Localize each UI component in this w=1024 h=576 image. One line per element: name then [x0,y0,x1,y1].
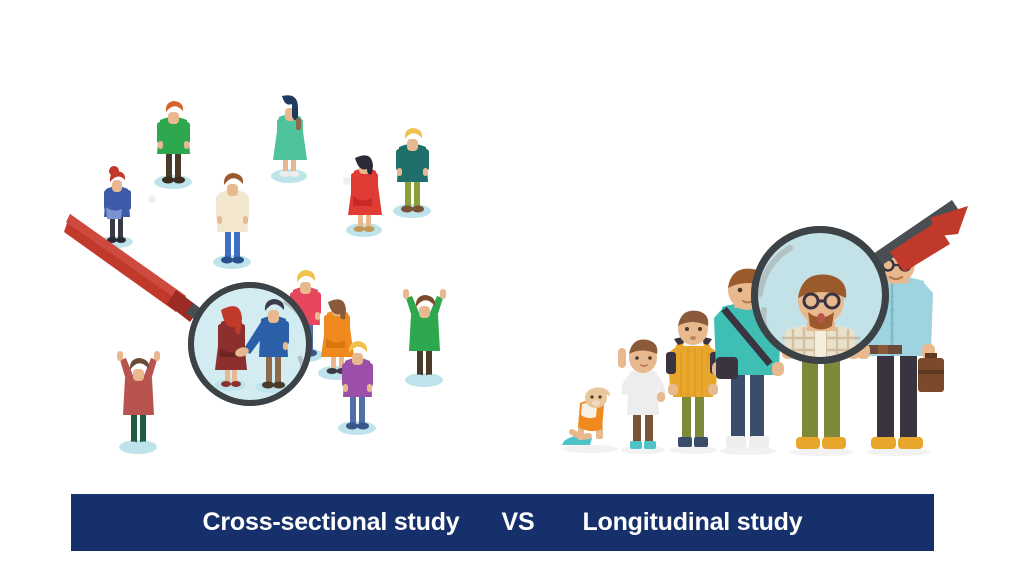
banner-inner: Cross-sectional study VS Longitudinal st… [203,508,803,537]
crowd-person-man-teal-olive [393,128,431,218]
crowd-person-man-green-shirt [154,101,192,189]
crowd-person-woman-teal-dress [271,95,307,183]
crowd-person-woman-red-dress [343,155,382,237]
right-panel-life-stages [562,200,968,456]
crowd-person-woman-red-bun [99,166,156,248]
crowd-person-man-maroon-cheering [117,351,160,454]
left-magnifier [188,282,312,406]
left-magnifier-handle [64,214,208,324]
life-stage-baby-crawling [562,387,610,445]
vs-label: VS [502,508,535,537]
right-magnifier-handle [870,200,968,272]
infographic-canvas: Cross-sectional study VS Longitudinal st… [0,0,1024,576]
longitudinal-study-label: Longitudinal study [582,508,802,537]
illustration [0,0,1024,576]
life-stage-child-backpack [666,311,720,447]
comparison-banner: Cross-sectional study VS Longitudinal st… [71,494,934,551]
crowd-person-man-green-cheering [403,289,446,387]
left-panel-crowd [64,95,446,454]
crowd-person-man-cream-shirt [213,173,251,269]
cross-sectional-study-label: Cross-sectional study [203,508,460,537]
life-stage-toddler-waving [618,340,665,449]
